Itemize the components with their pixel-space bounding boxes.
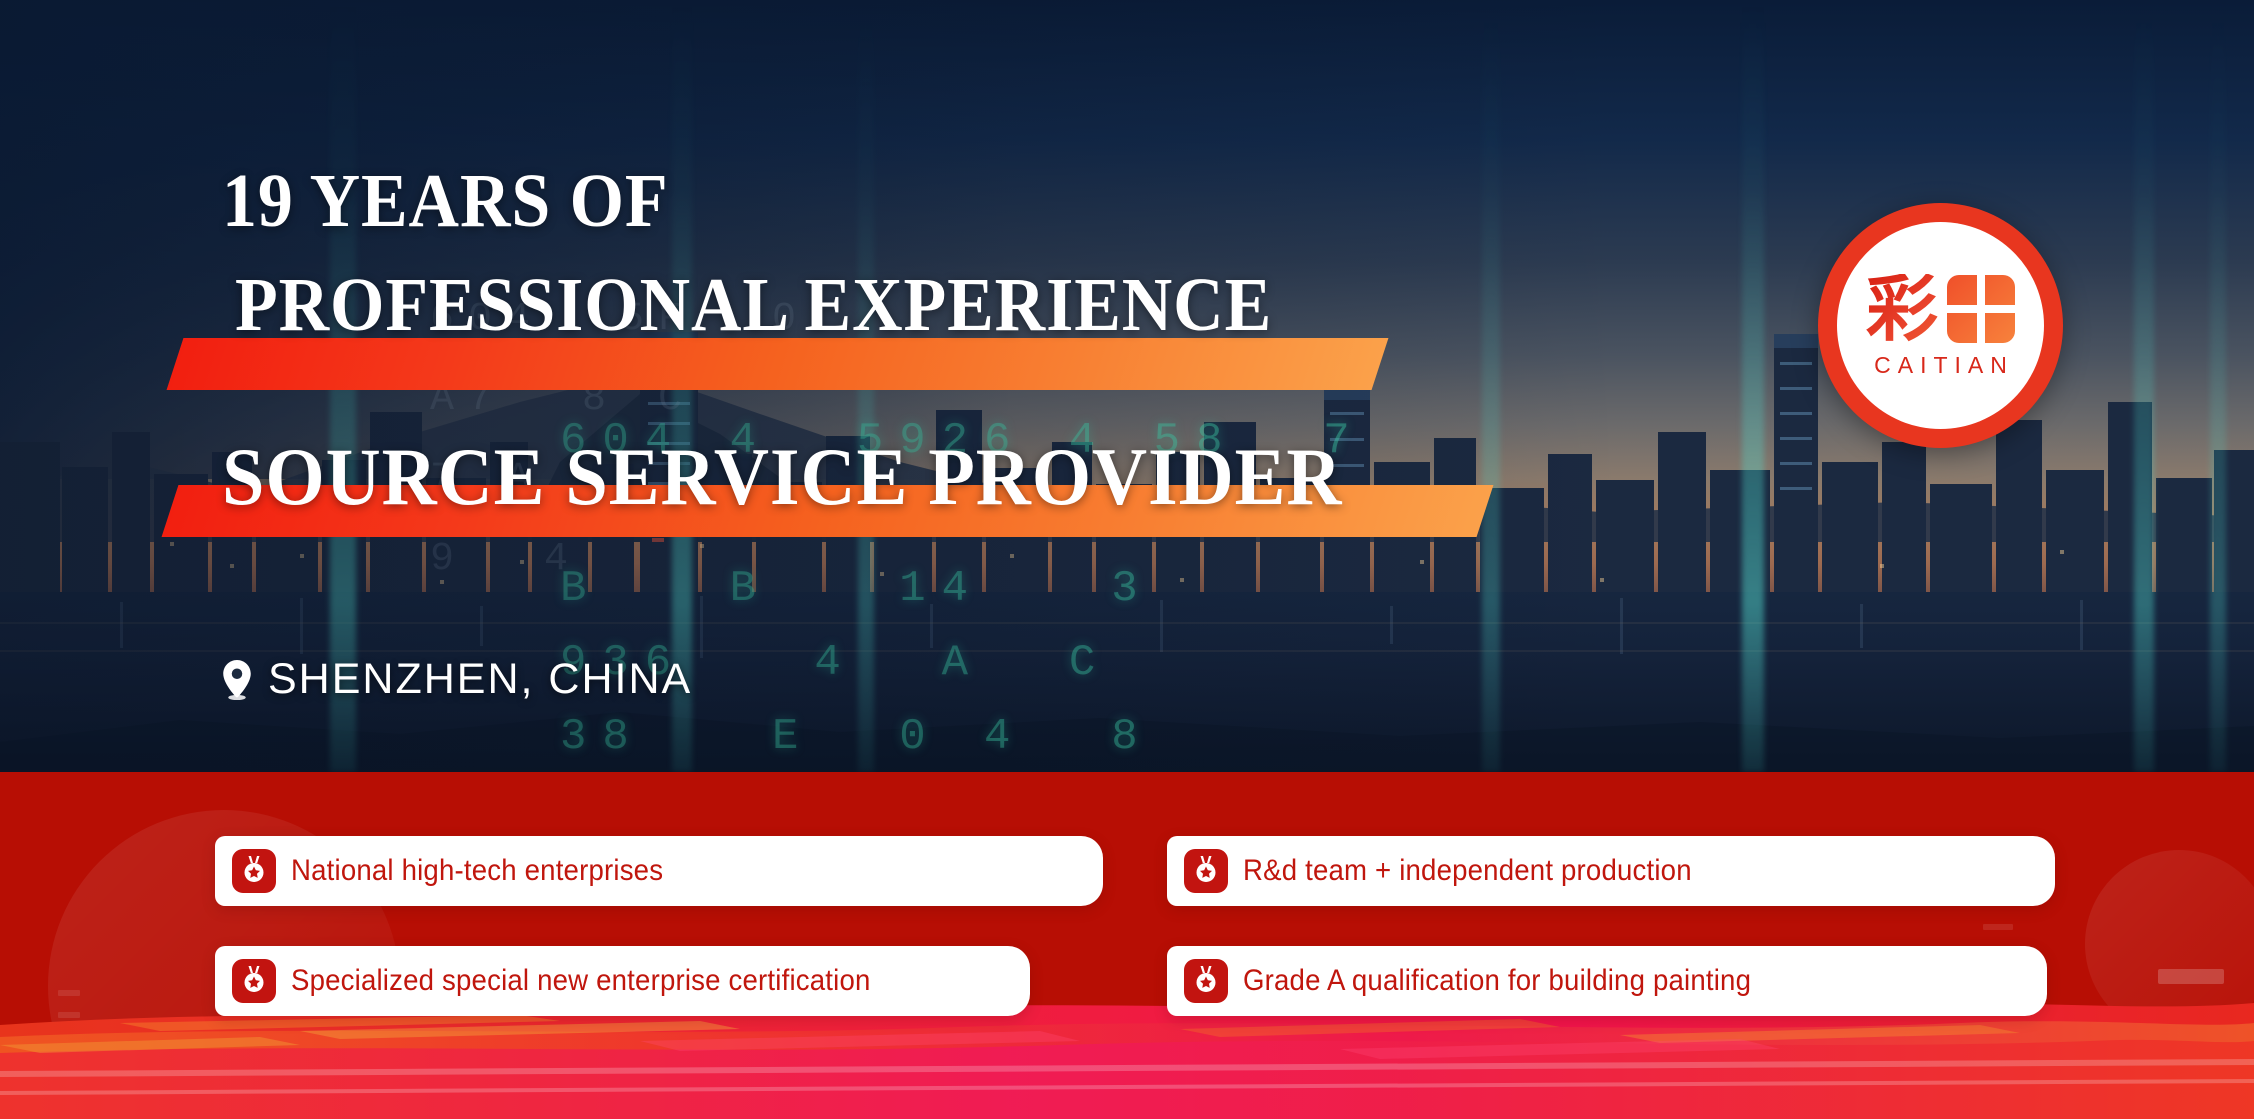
feature-pill[interactable]: R&d team + independent production [1167,836,2055,906]
feature-pill[interactable]: Specialized special new enterprise certi… [215,946,1030,1016]
medal-icon [1184,849,1228,893]
medal-icon [232,959,276,1003]
feature-pill-label: Specialized special new enterprise certi… [291,964,871,998]
medal-icon [232,849,276,893]
feature-pill-label: Grade A qualification for building paint… [1243,964,1751,998]
feature-pill[interactable]: National high-tech enterprises [215,836,1103,906]
medal-icon [1184,959,1228,1003]
feature-pill-group: National high-tech enterprises R&d team … [0,0,2254,1119]
feature-pill[interactable]: Grade A qualification for building paint… [1167,946,2047,1016]
feature-pill-label: National high-tech enterprises [291,854,663,888]
promo-banner: 604 5F 0 A7 8 C 7 A 9 4 D 2E2 F3D0 4 604… [0,0,2254,1119]
feature-pill-label: R&d team + independent production [1243,854,1692,888]
